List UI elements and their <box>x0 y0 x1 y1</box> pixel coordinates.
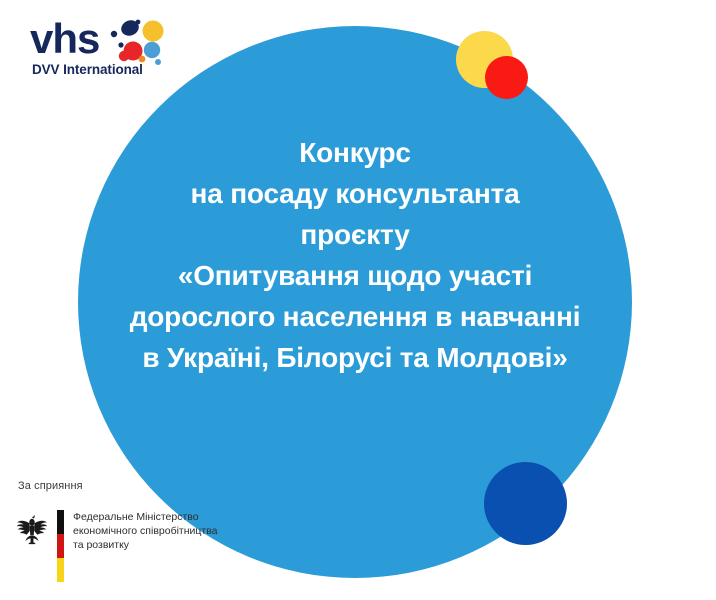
ministry-credit-block: Федеральне Міністерство економічного спі… <box>15 510 218 582</box>
german-flag-bar <box>57 510 64 582</box>
headline-block: Конкурс на посаду консультанта проєкту «… <box>88 132 622 378</box>
ministry-line-2: економічного співробітництва <box>73 524 218 538</box>
poster-canvas: vhs DVV International Конкурс на посаду … <box>0 0 716 600</box>
german-federal-eagle-icon <box>15 512 49 548</box>
headline-line-4: «Опитування щодо участі <box>88 255 622 296</box>
headline-line-6: в Україні, Білорусі та Молдові» <box>88 337 622 378</box>
ministry-line-3: та розвитку <box>73 538 218 552</box>
vhs-wordmark: vhs <box>30 18 99 60</box>
red-accent-circle <box>485 56 528 99</box>
headline-line-3: проєкту <box>88 214 622 255</box>
headline-line-2: на посаду консультанта <box>88 173 622 214</box>
dark-blue-accent-circle <box>484 462 567 545</box>
headline-line-1: Конкурс <box>88 132 622 173</box>
ministry-line-1: Федеральне Міністерство <box>73 510 218 524</box>
vhs-dvv-logo: vhs DVV International <box>30 18 200 82</box>
support-label: За сприяння <box>18 480 83 492</box>
headline-line-5: дорослого населення в навчанні <box>88 296 622 337</box>
logo-subtitle: DVV International <box>32 62 143 77</box>
ministry-name: Федеральне Міністерство економічного спі… <box>73 510 218 552</box>
